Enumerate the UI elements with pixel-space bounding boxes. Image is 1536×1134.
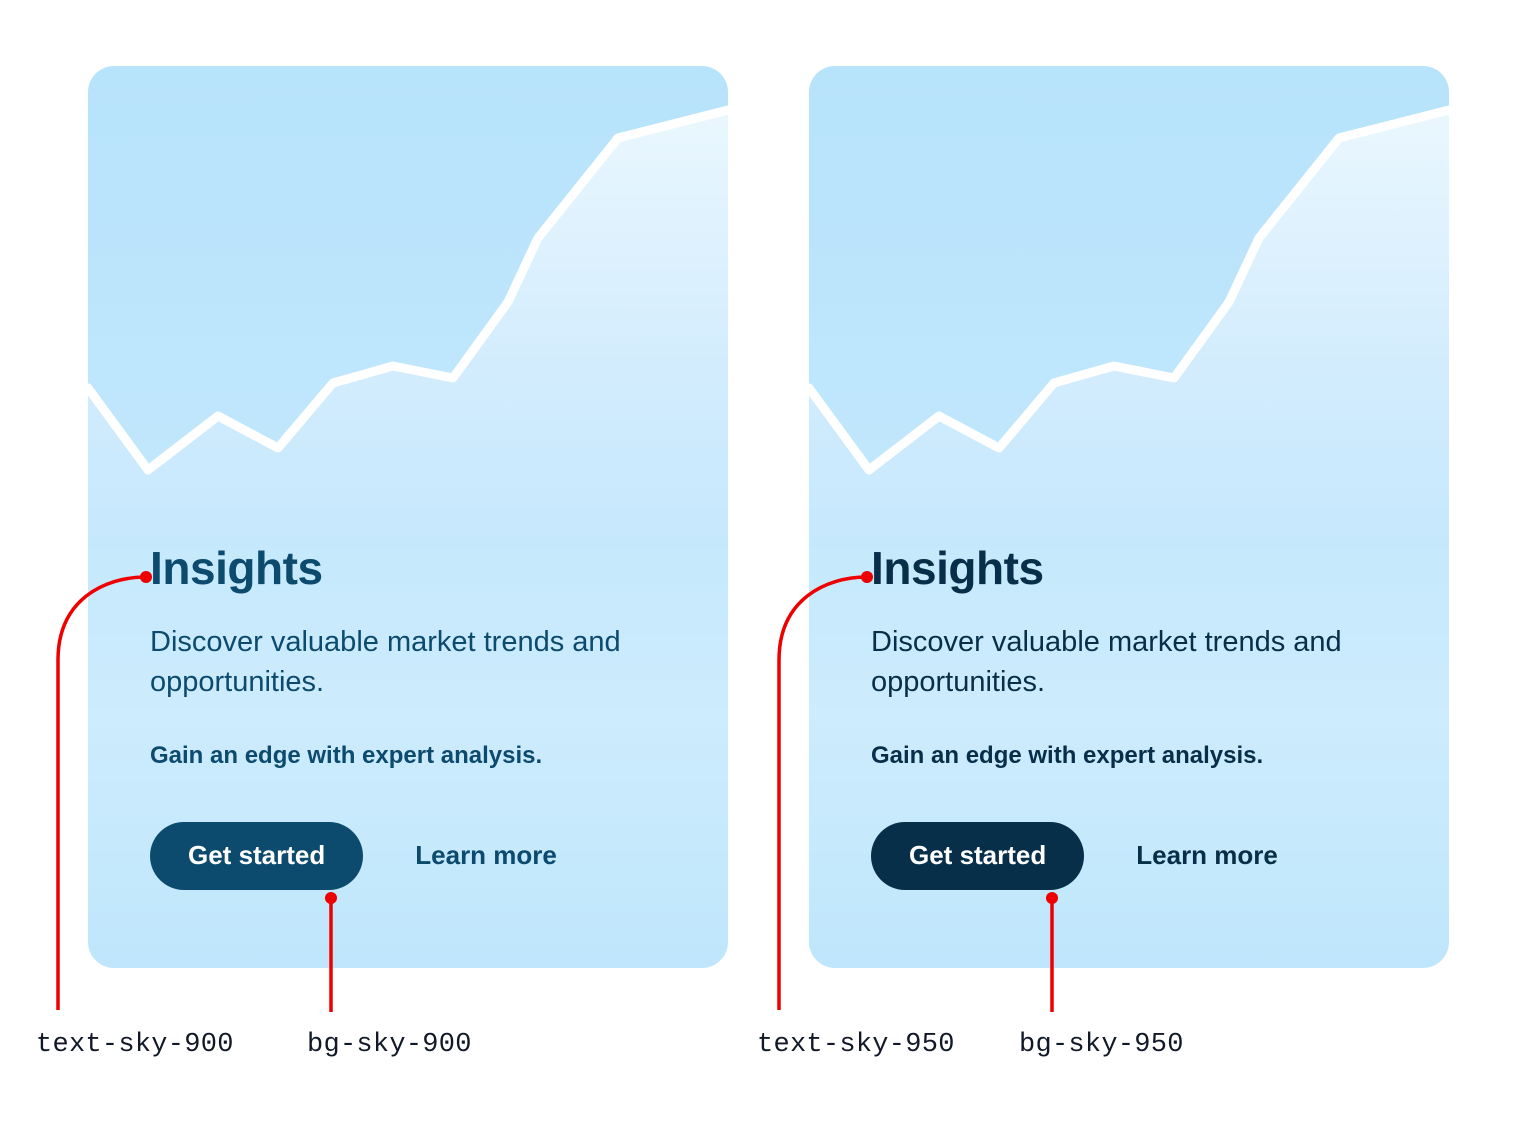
annotation-label-text-sky-900: text-sky-900 xyxy=(36,1030,234,1060)
annotation-label-text-sky-950: text-sky-950 xyxy=(757,1030,955,1060)
get-started-button[interactable]: Get started xyxy=(150,822,363,890)
insights-card-sky-950: Insights Discover valuable market trends… xyxy=(809,66,1449,968)
get-started-button[interactable]: Get started xyxy=(871,822,1084,890)
card-subtext: Gain an edge with expert analysis. xyxy=(150,740,688,771)
insights-card-sky-900: Insights Discover valuable market trends… xyxy=(88,66,728,968)
card-description: Discover valuable market trends and oppo… xyxy=(871,622,1391,702)
card-actions: Get started Learn more xyxy=(150,822,688,890)
card-content-sky-900: Insights Discover valuable market trends… xyxy=(150,544,688,890)
card-content-sky-950: Insights Discover valuable market trends… xyxy=(871,544,1409,890)
area-fill xyxy=(88,110,728,546)
comparison-stage: Insights Discover valuable market trends… xyxy=(0,0,1536,1134)
area-fill xyxy=(809,110,1449,546)
card-description: Discover valuable market trends and oppo… xyxy=(150,622,670,702)
card-actions: Get started Learn more xyxy=(871,822,1409,890)
chart-line xyxy=(88,110,728,470)
learn-more-link[interactable]: Learn more xyxy=(1136,840,1278,871)
card-title: Insights xyxy=(871,544,1409,592)
learn-more-link[interactable]: Learn more xyxy=(415,840,557,871)
annotation-label-bg-sky-900: bg-sky-900 xyxy=(307,1030,472,1060)
area-chart-sky-950 xyxy=(809,66,1449,546)
card-title: Insights xyxy=(150,544,688,592)
chart-line xyxy=(809,110,1449,470)
area-chart-sky-900 xyxy=(88,66,728,546)
card-subtext: Gain an edge with expert analysis. xyxy=(871,740,1409,771)
annotation-label-bg-sky-950: bg-sky-950 xyxy=(1019,1030,1184,1060)
